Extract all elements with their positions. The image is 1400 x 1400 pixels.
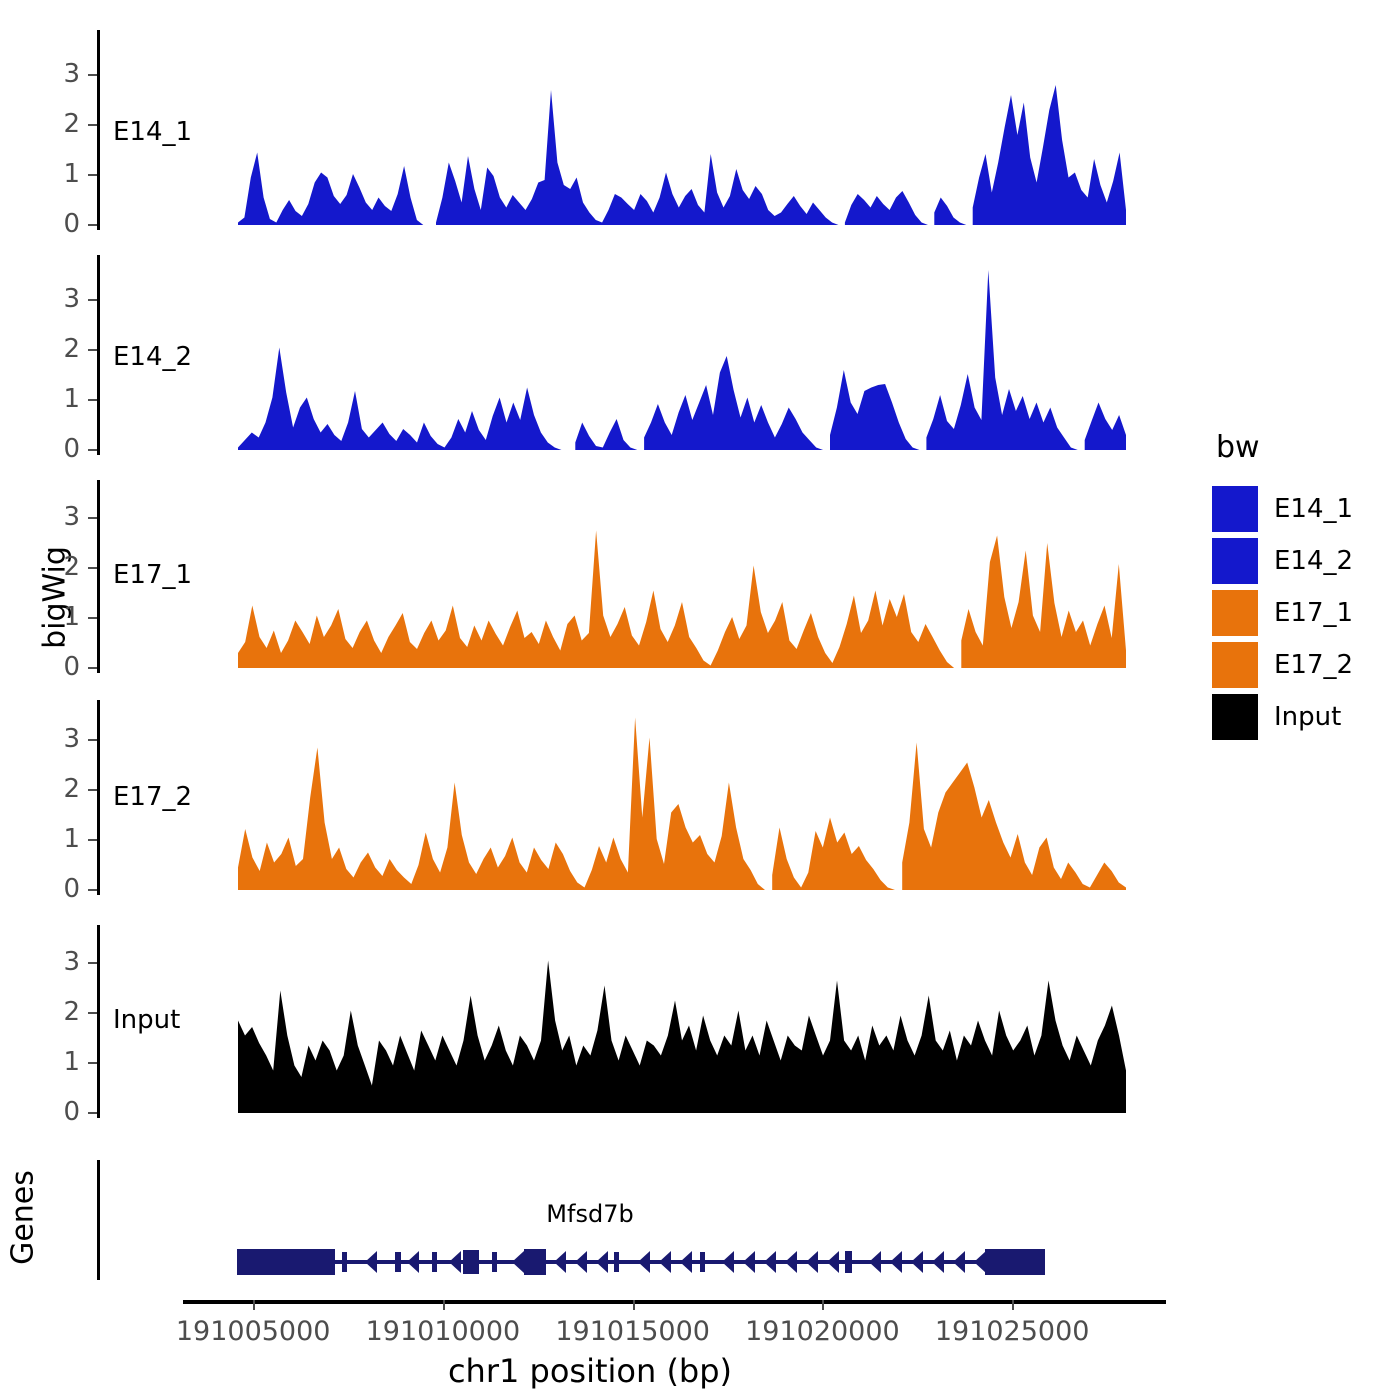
track-panel-e17_1: 0123E17_1 bbox=[0, 0, 1180, 1400]
coverage-area-e14_2 bbox=[0, 0, 1180, 1400]
y-tick bbox=[88, 299, 97, 301]
legend-swatch bbox=[1212, 642, 1258, 688]
legend-item-e17_2[interactable]: E17_2 bbox=[1212, 639, 1353, 691]
y-tick bbox=[88, 124, 97, 126]
legend-title: bw bbox=[1216, 430, 1353, 465]
strand-arrow-left-icon bbox=[953, 1251, 965, 1273]
y-tick-label: 1 bbox=[40, 386, 80, 412]
y-tick bbox=[88, 399, 97, 401]
strand-arrow-left-icon bbox=[785, 1251, 797, 1273]
gene-exon bbox=[524, 1249, 546, 1275]
legend-items: E14_1E14_2E17_1E17_2Input bbox=[1212, 483, 1353, 743]
strand-arrow-left-icon bbox=[659, 1251, 671, 1273]
y-tick-label: 0 bbox=[40, 436, 80, 462]
strand-arrow-left-icon bbox=[974, 1251, 986, 1273]
gene-exon bbox=[463, 1250, 479, 1274]
track-panel-e14_2: 0123E14_2 bbox=[0, 0, 1180, 1400]
strand-arrow-left-icon bbox=[890, 1251, 902, 1273]
y-tick bbox=[88, 74, 97, 76]
strand-arrow-left-icon bbox=[806, 1251, 818, 1273]
strand-arrow-left-icon bbox=[722, 1251, 734, 1273]
y-tick bbox=[88, 567, 97, 569]
y-tick-label: 2 bbox=[40, 111, 80, 137]
x-tick bbox=[1012, 1300, 1014, 1310]
gene-name-label: Mfsd7b bbox=[0, 1200, 1180, 1228]
y-tick bbox=[88, 1112, 97, 1114]
y-tick-label: 0 bbox=[40, 876, 80, 902]
gene-model bbox=[0, 1240, 1180, 1285]
x-tick-label: 191015000 bbox=[555, 1316, 710, 1347]
y-tick-label: 0 bbox=[40, 1099, 80, 1125]
y-axis-line bbox=[97, 480, 100, 673]
genome-browser-figure: bigWig Genes 0123E14_10123E14_20123E17_1… bbox=[0, 0, 1400, 1400]
y-tick bbox=[88, 617, 97, 619]
legend: bw E14_1E14_2E17_1E17_2Input bbox=[1212, 430, 1353, 743]
coverage-area-e14_1 bbox=[0, 0, 1180, 1400]
y-tick bbox=[88, 517, 97, 519]
gene-exon bbox=[845, 1251, 852, 1273]
strand-arrow-left-icon bbox=[764, 1251, 776, 1273]
legend-label: E17_1 bbox=[1274, 598, 1353, 628]
track-label-e14_1: E14_1 bbox=[113, 117, 192, 147]
strand-arrow-left-icon bbox=[575, 1251, 587, 1273]
y-tick-label: 3 bbox=[40, 61, 80, 87]
y-tick bbox=[88, 789, 97, 791]
x-tick bbox=[822, 1300, 824, 1310]
legend-item-e14_1[interactable]: E14_1 bbox=[1212, 483, 1353, 535]
coverage-area-input bbox=[0, 0, 1180, 1400]
y-axis-line bbox=[97, 30, 100, 230]
legend-item-input[interactable]: Input bbox=[1212, 691, 1353, 743]
legend-label: Input bbox=[1274, 702, 1341, 732]
coverage-area-e17_2 bbox=[0, 0, 1180, 1400]
strand-arrow-left-icon bbox=[827, 1251, 839, 1273]
y-tick-label: 1 bbox=[40, 826, 80, 852]
y-tick-label: 3 bbox=[40, 286, 80, 312]
y-tick-label: 1 bbox=[40, 1049, 80, 1075]
y-axis-title: bigWig bbox=[38, 498, 73, 698]
y-tick bbox=[88, 1012, 97, 1014]
x-tick-label: 191005000 bbox=[176, 1316, 331, 1347]
y-tick-label: 2 bbox=[40, 999, 80, 1025]
gene-exon bbox=[432, 1252, 437, 1272]
legend-item-e17_1[interactable]: E17_1 bbox=[1212, 587, 1353, 639]
y-tick bbox=[88, 224, 97, 226]
legend-swatch bbox=[1212, 694, 1258, 740]
x-tick-label: 191025000 bbox=[935, 1316, 1090, 1347]
gene-exon bbox=[395, 1252, 401, 1272]
track-panel-e17_2: 0123E17_2 bbox=[0, 0, 1180, 1400]
gene-exon bbox=[985, 1249, 1045, 1275]
x-tick-label: 191010000 bbox=[366, 1316, 521, 1347]
legend-swatch bbox=[1212, 486, 1258, 532]
strand-arrow-left-icon bbox=[932, 1251, 944, 1273]
track-panel-input: 0123Input bbox=[0, 0, 1180, 1400]
y-tick bbox=[88, 962, 97, 964]
y-tick-label: 2 bbox=[40, 336, 80, 362]
y-tick bbox=[88, 449, 97, 451]
y-axis-line bbox=[97, 255, 100, 455]
track-label-e14_2: E14_2 bbox=[113, 342, 192, 372]
strand-arrow-left-icon bbox=[365, 1251, 377, 1273]
y-tick-label: 2 bbox=[40, 776, 80, 802]
x-tick bbox=[443, 1300, 445, 1310]
strand-arrow-left-icon bbox=[680, 1251, 692, 1273]
gene-exon bbox=[700, 1252, 705, 1272]
strand-arrow-left-icon bbox=[554, 1251, 566, 1273]
x-tick-label: 191020000 bbox=[745, 1316, 900, 1347]
gene-exon bbox=[614, 1252, 619, 1272]
track-label-e17_1: E17_1 bbox=[113, 560, 192, 590]
strand-arrow-left-icon bbox=[638, 1251, 650, 1273]
strand-arrow-left-icon bbox=[407, 1251, 419, 1273]
legend-swatch bbox=[1212, 590, 1258, 636]
strand-arrow-left-icon bbox=[911, 1251, 923, 1273]
legend-label: E14_2 bbox=[1274, 546, 1353, 576]
y-tick-label: 3 bbox=[40, 726, 80, 752]
y-tick bbox=[88, 1062, 97, 1064]
x-axis-title: chr1 position (bp) bbox=[0, 1352, 1180, 1390]
gene-exon bbox=[342, 1252, 347, 1272]
y-tick bbox=[88, 739, 97, 741]
legend-label: E14_1 bbox=[1274, 494, 1353, 524]
y-tick-label: 1 bbox=[40, 161, 80, 187]
y-axis-line bbox=[97, 700, 100, 895]
y-tick bbox=[88, 349, 97, 351]
gene-exon bbox=[492, 1252, 497, 1272]
y-tick bbox=[88, 667, 97, 669]
y-tick bbox=[88, 174, 97, 176]
legend-swatch bbox=[1212, 538, 1258, 584]
x-tick bbox=[633, 1300, 635, 1310]
strand-arrow-left-icon bbox=[596, 1251, 608, 1273]
track-label-e17_2: E17_2 bbox=[113, 782, 192, 812]
legend-label: E17_2 bbox=[1274, 650, 1353, 680]
strand-arrow-left-icon bbox=[449, 1251, 461, 1273]
track-panel-e14_1: 0123E14_1 bbox=[0, 0, 1180, 1400]
strand-arrow-left-icon bbox=[869, 1251, 881, 1273]
y-tick-label: 3 bbox=[40, 949, 80, 975]
strand-arrow-left-icon bbox=[743, 1251, 755, 1273]
strand-arrow-left-icon bbox=[512, 1251, 524, 1273]
x-axis-line bbox=[183, 1300, 1166, 1304]
y-tick-label: 0 bbox=[40, 211, 80, 237]
track-label-input: Input bbox=[113, 1005, 180, 1035]
gene-exon bbox=[237, 1249, 335, 1275]
y-tick bbox=[88, 839, 97, 841]
coverage-area-e17_1 bbox=[0, 0, 1180, 1400]
y-tick bbox=[88, 889, 97, 891]
x-tick bbox=[253, 1300, 255, 1310]
y-axis-line bbox=[97, 925, 100, 1118]
legend-item-e14_2[interactable]: E14_2 bbox=[1212, 535, 1353, 587]
